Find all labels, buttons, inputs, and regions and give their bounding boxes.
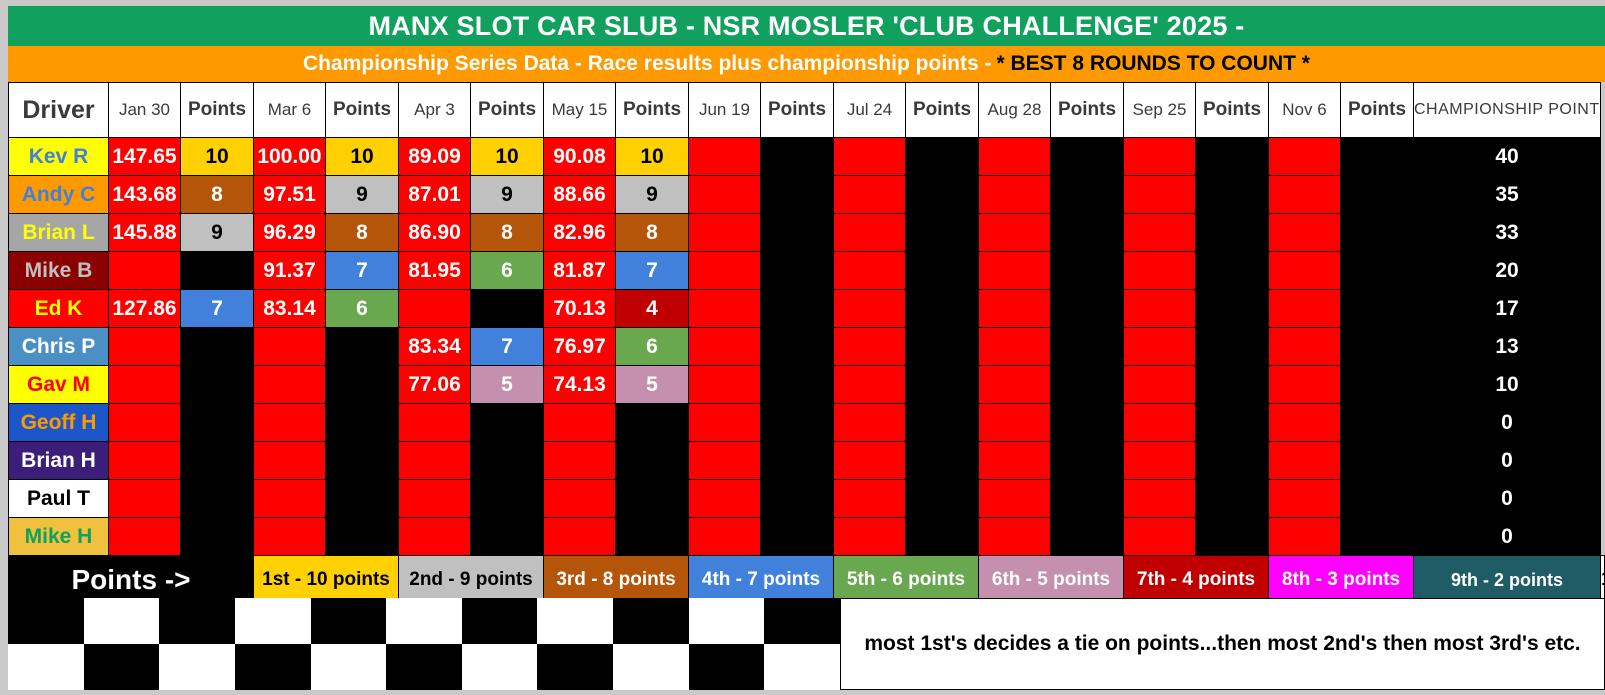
checker-square	[613, 598, 689, 644]
column-header-points-6: Points	[1051, 83, 1124, 138]
column-header-championship-points: CHAMPIONSHIP POINTS	[1414, 83, 1601, 138]
race-time-cell[interactable]: 100.00	[254, 138, 326, 176]
race-time-cell-empty[interactable]	[1269, 442, 1341, 480]
race-time-cell[interactable]: 83.34	[399, 328, 471, 366]
race-time-cell-empty[interactable]	[1269, 404, 1341, 442]
race-time-cell-empty[interactable]	[979, 214, 1051, 252]
round-points-cell-empty[interactable]	[326, 442, 399, 480]
race-time-cell-empty[interactable]	[834, 366, 906, 404]
round-points-cell-empty[interactable]	[1051, 328, 1124, 366]
round-points-cell-empty[interactable]	[1051, 214, 1124, 252]
round-points-cell-empty[interactable]	[761, 480, 834, 518]
round-points-value: 10	[205, 145, 228, 168]
race-time-cell-empty[interactable]	[109, 252, 181, 290]
round-points-cell-empty[interactable]	[181, 252, 254, 290]
round-points-cell-empty[interactable]	[1196, 404, 1269, 442]
race-time-cell-empty[interactable]	[399, 518, 471, 556]
round-points-cell-empty[interactable]	[1341, 480, 1414, 518]
race-time-cell-empty[interactable]	[1269, 252, 1341, 290]
championship-points-cell[interactable]: 13	[1414, 328, 1601, 366]
round-points-cell-empty[interactable]	[1341, 518, 1414, 556]
round-points-cell-empty[interactable]	[1196, 328, 1269, 366]
race-time-cell[interactable]: 83.14	[254, 290, 326, 328]
round-points-value: 9	[646, 183, 658, 206]
round-points-cell-empty[interactable]	[906, 328, 979, 366]
driver-name-label: Kev R	[29, 145, 89, 168]
championship-points-value: 10	[1495, 373, 1518, 396]
round-points-cell-empty[interactable]	[761, 214, 834, 252]
round-points-cell[interactable]: 7	[616, 252, 689, 290]
driver-name-cell[interactable]: Paul T	[9, 480, 109, 518]
round-points-cell[interactable]: 8	[181, 176, 254, 214]
race-time-cell-empty[interactable]	[689, 138, 761, 176]
race-time-cell-empty[interactable]	[834, 214, 906, 252]
round-points-cell-empty[interactable]	[181, 518, 254, 556]
round-points-cell[interactable]: 10	[326, 138, 399, 176]
round-points-cell-empty[interactable]	[326, 480, 399, 518]
race-time-cell-empty[interactable]	[399, 404, 471, 442]
round-points-cell-empty[interactable]	[761, 518, 834, 556]
race-time-cell-empty[interactable]	[689, 404, 761, 442]
round-points-value: 8	[211, 183, 223, 206]
championship-points-cell[interactable]: 0	[1414, 404, 1601, 442]
round-points-cell[interactable]: 5	[471, 366, 544, 404]
round-points-value: 7	[501, 335, 513, 358]
round-points-value: 8	[356, 221, 368, 244]
race-time-cell-empty[interactable]	[1124, 290, 1196, 328]
race-time-cell-empty[interactable]	[979, 252, 1051, 290]
race-time-cell-empty[interactable]	[979, 138, 1051, 176]
round-points-cell-empty[interactable]	[906, 518, 979, 556]
round-points-cell-empty[interactable]	[616, 480, 689, 518]
round-points-cell-empty[interactable]	[906, 442, 979, 480]
checker-square	[689, 598, 765, 644]
race-time-value: 100.00	[257, 145, 321, 168]
round-points-cell-empty[interactable]	[1196, 214, 1269, 252]
race-time-value: 74.13	[553, 373, 606, 396]
race-time-cell-empty[interactable]	[834, 176, 906, 214]
race-time-cell-empty[interactable]	[689, 176, 761, 214]
race-time-value: 127.86	[112, 297, 176, 320]
race-time-cell[interactable]: 86.90	[399, 214, 471, 252]
round-points-cell-empty[interactable]	[1196, 480, 1269, 518]
race-time-cell-empty[interactable]	[1124, 480, 1196, 518]
race-time-cell-empty[interactable]	[544, 404, 616, 442]
checker-square	[159, 644, 235, 690]
race-time-cell-empty[interactable]	[254, 480, 326, 518]
page-title: MANX SLOT CAR SLUB - NSR MOSLER 'CLUB CH…	[8, 6, 1605, 46]
race-time-cell-empty[interactable]	[399, 290, 471, 328]
race-time-cell-empty[interactable]	[979, 442, 1051, 480]
race-time-cell-empty[interactable]	[1124, 366, 1196, 404]
race-time-cell-empty[interactable]	[109, 480, 181, 518]
column-header-round-5: Jul 24	[834, 83, 906, 138]
championship-points-cell[interactable]: 33	[1414, 214, 1601, 252]
round-points-cell[interactable]: 9	[181, 214, 254, 252]
race-time-value: 90.08	[553, 145, 606, 168]
driver-name-cell[interactable]: Chris P	[9, 328, 109, 366]
championship-points-value: 20	[1495, 259, 1518, 282]
race-time-cell-empty[interactable]	[834, 404, 906, 442]
race-time-cell-empty[interactable]	[1269, 290, 1341, 328]
race-time-cell-empty[interactable]	[399, 480, 471, 518]
column-header-championship-label: CHAMPIONSHIP POINTS	[1414, 101, 1601, 118]
race-time-cell-empty[interactable]	[834, 442, 906, 480]
championship-points-cell[interactable]: 0	[1414, 480, 1601, 518]
race-time-cell-empty[interactable]	[834, 290, 906, 328]
round-points-cell-empty[interactable]	[761, 138, 834, 176]
race-time-value: 82.96	[553, 221, 606, 244]
race-time-cell-empty[interactable]	[1269, 480, 1341, 518]
race-time-cell-empty[interactable]	[254, 366, 326, 404]
round-points-cell-empty[interactable]	[1196, 176, 1269, 214]
round-points-cell[interactable]: 7	[326, 252, 399, 290]
championship-points-cell[interactable]: 20	[1414, 252, 1601, 290]
race-time-cell-empty[interactable]	[979, 480, 1051, 518]
round-points-cell[interactable]: 6	[326, 290, 399, 328]
round-points-cell-empty[interactable]	[761, 404, 834, 442]
table-row: Mike B91.37781.95681.87720	[9, 252, 1605, 290]
column-header-points-label: Points	[478, 99, 536, 120]
race-time-cell-empty[interactable]	[254, 442, 326, 480]
column-header-points-2: Points	[471, 83, 544, 138]
round-points-cell-empty[interactable]	[1051, 138, 1124, 176]
race-time-cell-empty[interactable]	[689, 290, 761, 328]
round-points-cell-empty[interactable]	[1341, 214, 1414, 252]
race-time-cell-empty[interactable]	[1124, 518, 1196, 556]
round-points-cell-empty[interactable]	[1051, 518, 1124, 556]
race-time-cell-empty[interactable]	[979, 176, 1051, 214]
round-points-cell[interactable]: 7	[181, 290, 254, 328]
round-points-cell-empty[interactable]	[1341, 290, 1414, 328]
race-time-cell-empty[interactable]	[1269, 176, 1341, 214]
spreadsheet-canvas: MANX SLOT CAR SLUB - NSR MOSLER 'CLUB CH…	[0, 0, 1605, 695]
driver-name-label: Gav M	[27, 373, 90, 396]
page-subtitle-text: Championship Series Data - Race results …	[303, 52, 991, 76]
column-header-points-label: Points	[623, 99, 681, 120]
round-points-cell[interactable]: 10	[616, 138, 689, 176]
round-points-cell-empty[interactable]	[761, 366, 834, 404]
race-time-cell[interactable]: 87.01	[399, 176, 471, 214]
round-points-cell-empty[interactable]	[906, 290, 979, 328]
checker-square	[537, 598, 613, 644]
race-time-cell[interactable]: 82.96	[544, 214, 616, 252]
round-points-cell-empty[interactable]	[1051, 442, 1124, 480]
column-header-points-label: Points	[1203, 99, 1261, 120]
round-points-cell[interactable]: 8	[326, 214, 399, 252]
championship-points-value: 0	[1501, 487, 1513, 510]
race-time-cell[interactable]: 147.65	[109, 138, 181, 176]
round-points-cell-empty[interactable]	[326, 328, 399, 366]
driver-name-cell[interactable]: Ed K	[9, 290, 109, 328]
race-time-cell-empty[interactable]	[834, 480, 906, 518]
driver-name-cell[interactable]: Brian L	[9, 214, 109, 252]
round-points-cell-empty[interactable]	[906, 176, 979, 214]
column-header-points-label: Points	[1058, 99, 1116, 120]
race-time-cell[interactable]: 90.08	[544, 138, 616, 176]
round-points-cell-empty[interactable]	[1051, 290, 1124, 328]
race-time-cell-empty[interactable]	[834, 138, 906, 176]
race-time-value: 77.06	[408, 373, 461, 396]
round-points-cell-empty[interactable]	[1341, 404, 1414, 442]
race-time-cell[interactable]: 88.66	[544, 176, 616, 214]
round-points-cell-empty[interactable]	[471, 480, 544, 518]
points-legend-item-text: 9th - 2 points	[1451, 570, 1563, 590]
round-points-cell-empty[interactable]	[181, 442, 254, 480]
race-time-cell[interactable]: 96.29	[254, 214, 326, 252]
race-time-cell[interactable]: 89.09	[399, 138, 471, 176]
race-time-cell-empty[interactable]	[979, 290, 1051, 328]
tiebreak-note-text: most 1st's decides a tie on points...the…	[864, 631, 1580, 657]
race-time-cell-empty[interactable]	[689, 518, 761, 556]
round-points-cell-empty[interactable]	[471, 442, 544, 480]
race-time-cell-empty[interactable]	[1124, 404, 1196, 442]
round-points-cell-empty[interactable]	[761, 176, 834, 214]
round-points-cell-empty[interactable]	[471, 290, 544, 328]
race-time-cell[interactable]: 76.97	[544, 328, 616, 366]
race-time-cell-empty[interactable]	[1124, 138, 1196, 176]
race-time-value: 88.66	[553, 183, 606, 206]
race-time-cell-empty[interactable]	[254, 328, 326, 366]
race-time-cell-empty[interactable]	[254, 518, 326, 556]
round-points-cell[interactable]: 10	[471, 138, 544, 176]
round-points-cell-empty[interactable]	[1341, 366, 1414, 404]
column-header-points-8: Points	[1341, 83, 1414, 138]
round-points-cell-empty[interactable]	[1341, 442, 1414, 480]
race-time-cell[interactable]: 143.68	[109, 176, 181, 214]
race-time-cell-empty[interactable]	[1269, 214, 1341, 252]
round-points-cell-empty[interactable]	[1196, 138, 1269, 176]
tiebreak-note: most 1st's decides a tie on points...the…	[840, 598, 1605, 690]
driver-name-label: Ed K	[35, 297, 83, 320]
column-header-round-label: Sep 25	[1133, 100, 1187, 119]
round-points-cell[interactable]: 7	[471, 328, 544, 366]
race-time-cell-empty[interactable]	[1124, 176, 1196, 214]
round-points-cell-empty[interactable]	[181, 480, 254, 518]
driver-name-cell[interactable]: Andy C	[9, 176, 109, 214]
race-time-value: 76.97	[553, 335, 606, 358]
round-points-value: 9	[356, 183, 368, 206]
round-points-cell-empty[interactable]	[1051, 480, 1124, 518]
race-time-cell-empty[interactable]	[109, 366, 181, 404]
race-time-cell-empty[interactable]	[254, 404, 326, 442]
round-points-cell-empty[interactable]	[761, 328, 834, 366]
championship-points-value: 0	[1501, 449, 1513, 472]
page-subtitle: Championship Series Data - Race results …	[8, 46, 1605, 82]
race-time-cell-empty[interactable]	[979, 328, 1051, 366]
table-row: Chris P83.34776.97613	[9, 328, 1605, 366]
round-points-cell-empty[interactable]	[326, 404, 399, 442]
round-points-value: 9	[211, 221, 223, 244]
race-time-cell-empty[interactable]	[399, 442, 471, 480]
round-points-value: 4	[646, 297, 658, 320]
checker-square	[462, 644, 538, 690]
race-time-cell-empty[interactable]	[109, 518, 181, 556]
driver-name-cell[interactable]: Geoff H	[9, 404, 109, 442]
race-time-cell-empty[interactable]	[1269, 138, 1341, 176]
round-points-cell[interactable]: 6	[616, 328, 689, 366]
driver-name-cell[interactable]: Mike B	[9, 252, 109, 290]
round-points-cell-empty[interactable]	[181, 366, 254, 404]
race-time-cell-empty[interactable]	[689, 366, 761, 404]
round-points-cell-empty[interactable]	[1341, 138, 1414, 176]
checker-square	[8, 598, 84, 644]
round-points-cell[interactable]: 8	[471, 214, 544, 252]
race-time-cell[interactable]: 127.86	[109, 290, 181, 328]
championship-points-cell[interactable]: 35	[1414, 176, 1601, 214]
checkered-flag-decoration	[8, 598, 840, 690]
checker-square	[764, 644, 840, 690]
round-points-cell-empty[interactable]	[906, 404, 979, 442]
round-points-cell-empty[interactable]	[616, 404, 689, 442]
column-header-points-0: Points	[181, 83, 254, 138]
checker-square	[613, 644, 689, 690]
column-header-round-6: Aug 28	[979, 83, 1051, 138]
race-time-cell-empty[interactable]	[1269, 366, 1341, 404]
round-points-cell-empty[interactable]	[761, 442, 834, 480]
table-row: Brian H0	[9, 442, 1605, 480]
round-points-cell[interactable]: 4	[616, 290, 689, 328]
race-time-cell[interactable]: 97.51	[254, 176, 326, 214]
race-time-cell-empty[interactable]	[979, 518, 1051, 556]
race-time-cell-empty[interactable]	[1124, 252, 1196, 290]
round-points-cell-empty[interactable]	[326, 366, 399, 404]
round-points-cell[interactable]: 10	[181, 138, 254, 176]
race-time-cell-empty[interactable]	[834, 328, 906, 366]
race-time-cell-empty[interactable]	[834, 518, 906, 556]
round-points-cell[interactable]: 5	[616, 366, 689, 404]
round-points-cell-empty[interactable]	[616, 442, 689, 480]
round-points-value: 5	[501, 373, 513, 396]
round-points-cell-empty[interactable]	[1196, 252, 1269, 290]
championship-points-value: 13	[1495, 335, 1518, 358]
round-points-cell-empty[interactable]	[616, 518, 689, 556]
race-time-cell-empty[interactable]	[109, 328, 181, 366]
round-points-cell-empty[interactable]	[906, 252, 979, 290]
race-time-cell-empty[interactable]	[834, 252, 906, 290]
checker-square	[311, 644, 387, 690]
round-points-cell-empty[interactable]	[1196, 442, 1269, 480]
column-header-driver: Driver	[9, 83, 109, 138]
driver-name-cell[interactable]: Mike H	[9, 518, 109, 556]
points-legend-item-text: 7th - 4 points	[1137, 569, 1255, 590]
checker-square	[311, 598, 387, 644]
race-time-cell-empty[interactable]	[544, 442, 616, 480]
round-points-cell-empty[interactable]	[1196, 518, 1269, 556]
race-time-cell-empty[interactable]	[689, 214, 761, 252]
race-time-cell-empty[interactable]	[1269, 518, 1341, 556]
round-points-value: 7	[646, 259, 658, 282]
checker-square	[386, 598, 462, 644]
race-time-cell-empty[interactable]	[979, 404, 1051, 442]
race-time-cell[interactable]: 145.88	[109, 214, 181, 252]
round-points-cell-empty[interactable]	[906, 480, 979, 518]
round-points-cell[interactable]: 9	[326, 176, 399, 214]
round-points-cell-empty[interactable]	[181, 328, 254, 366]
race-time-cell-empty[interactable]	[109, 404, 181, 442]
race-time-cell-empty[interactable]	[1124, 442, 1196, 480]
table-row: Brian L145.88996.29886.90882.96833	[9, 214, 1605, 252]
race-time-value: 97.51	[263, 183, 316, 206]
round-points-cell-empty[interactable]	[1341, 176, 1414, 214]
championship-points-cell[interactable]: 10	[1414, 366, 1601, 404]
race-time-cell-empty[interactable]	[109, 442, 181, 480]
checker-square	[537, 644, 613, 690]
round-points-cell-empty[interactable]	[181, 404, 254, 442]
championship-points-cell[interactable]: 17	[1414, 290, 1601, 328]
column-header-driver-label: Driver	[22, 96, 94, 124]
driver-name-cell[interactable]: Kev R	[9, 138, 109, 176]
driver-name-cell[interactable]: Brian H	[9, 442, 109, 480]
round-points-cell[interactable]: 9	[616, 176, 689, 214]
round-points-cell-empty[interactable]	[906, 214, 979, 252]
checker-square	[235, 598, 311, 644]
race-time-cell-empty[interactable]	[689, 442, 761, 480]
race-time-cell-empty[interactable]	[1124, 214, 1196, 252]
race-time-cell-empty[interactable]	[544, 480, 616, 518]
round-points-cell-empty[interactable]	[761, 252, 834, 290]
race-time-cell-empty[interactable]	[689, 252, 761, 290]
race-time-value: 70.13	[553, 297, 606, 320]
race-time-cell[interactable]: 74.13	[544, 366, 616, 404]
column-header-round-1: Mar 6	[254, 83, 326, 138]
race-time-cell-empty[interactable]	[1124, 328, 1196, 366]
round-points-cell-empty[interactable]	[1051, 252, 1124, 290]
race-time-cell[interactable]: 81.95	[399, 252, 471, 290]
race-time-cell-empty[interactable]	[1269, 328, 1341, 366]
race-time-cell-empty[interactable]	[689, 328, 761, 366]
round-points-cell-empty[interactable]	[1196, 366, 1269, 404]
championship-points-value: 0	[1501, 525, 1513, 548]
points-legend-item-text: 1st - 10 points	[262, 569, 390, 590]
race-time-cell[interactable]: 77.06	[399, 366, 471, 404]
round-points-value: 10	[495, 145, 518, 168]
round-points-cell[interactable]: 9	[471, 176, 544, 214]
round-points-cell-empty[interactable]	[471, 404, 544, 442]
race-time-cell-empty[interactable]	[979, 366, 1051, 404]
race-time-cell[interactable]: 91.37	[254, 252, 326, 290]
round-points-value: 10	[640, 145, 663, 168]
round-points-cell-empty[interactable]	[1196, 290, 1269, 328]
checker-square	[386, 644, 462, 690]
column-header-round-label: May 15	[552, 100, 608, 119]
column-header-round-label: Apr 3	[414, 100, 455, 119]
round-points-cell-empty[interactable]	[1341, 328, 1414, 366]
race-time-cell[interactable]: 70.13	[544, 290, 616, 328]
championship-points-cell[interactable]: 0	[1414, 442, 1601, 480]
round-points-cell-empty[interactable]	[906, 138, 979, 176]
round-points-cell-empty[interactable]	[1051, 176, 1124, 214]
race-time-cell[interactable]: 81.87	[544, 252, 616, 290]
round-points-cell-empty[interactable]	[1051, 366, 1124, 404]
driver-name-label: Mike B	[25, 259, 93, 282]
race-time-cell-empty[interactable]	[689, 480, 761, 518]
championship-points-cell[interactable]: 0	[1414, 518, 1601, 556]
round-points-cell[interactable]: 6	[471, 252, 544, 290]
round-points-cell[interactable]: 8	[616, 214, 689, 252]
column-header-points-4: Points	[761, 83, 834, 138]
round-points-cell-empty[interactable]	[761, 290, 834, 328]
championship-points-cell[interactable]: 40	[1414, 138, 1601, 176]
column-header-points-7: Points	[1196, 83, 1269, 138]
round-points-cell-empty[interactable]	[906, 366, 979, 404]
round-points-cell-empty[interactable]	[1341, 252, 1414, 290]
round-points-cell-empty[interactable]	[471, 518, 544, 556]
round-points-cell-empty[interactable]	[326, 518, 399, 556]
round-points-cell-empty[interactable]	[1051, 404, 1124, 442]
driver-name-cell[interactable]: Gav M	[9, 366, 109, 404]
race-time-cell-empty[interactable]	[544, 518, 616, 556]
